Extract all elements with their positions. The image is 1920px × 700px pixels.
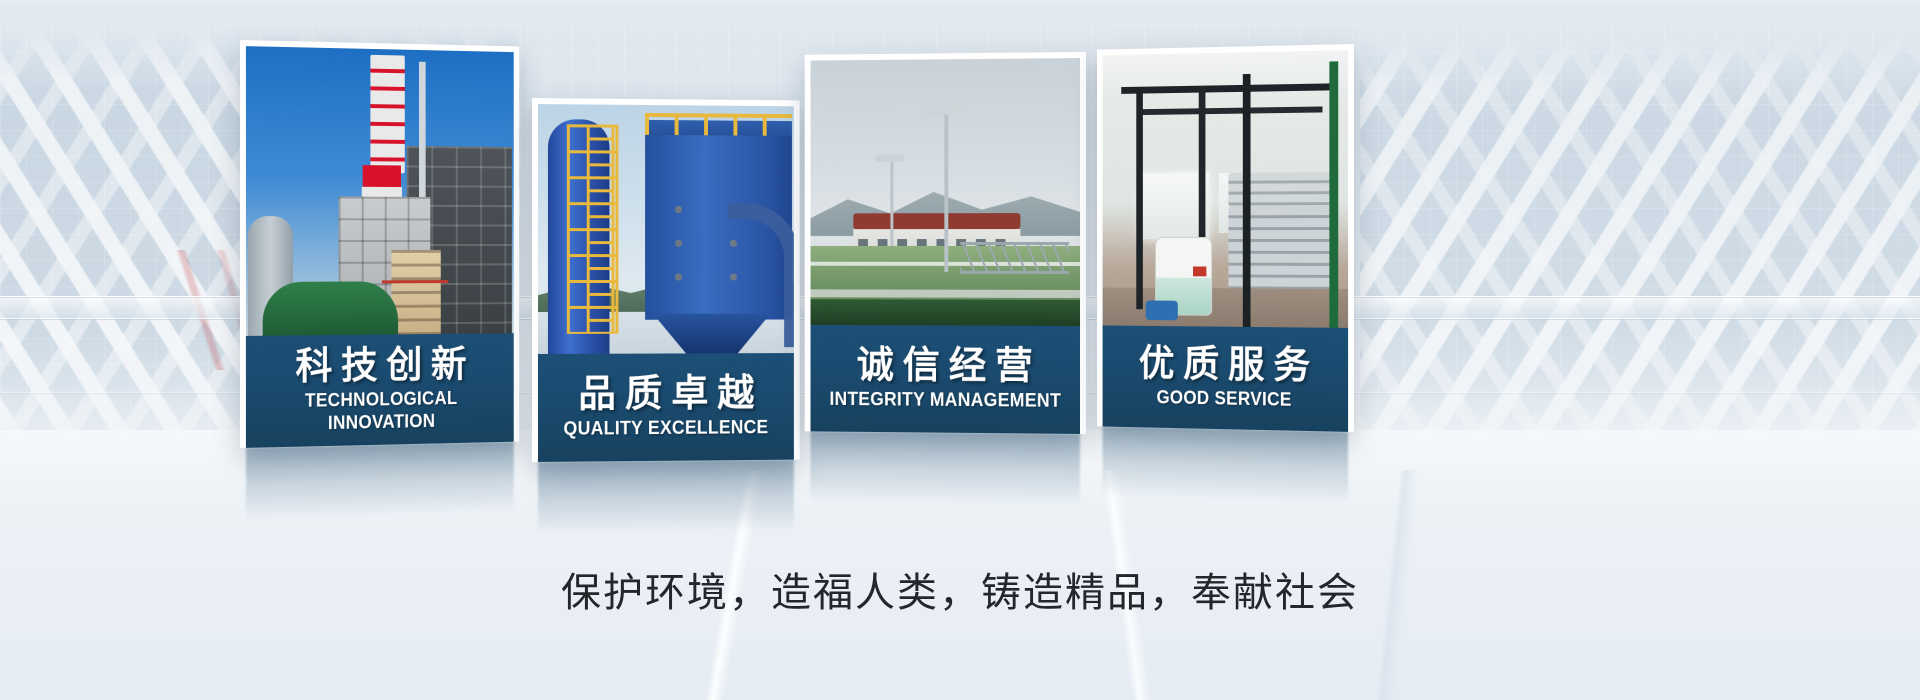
beige-building [391, 250, 440, 335]
panel-title-en: TECHNOLOGICAL INNOVATION [254, 387, 506, 437]
panel-title-cn: 诚信经营 [848, 345, 1042, 387]
panel-caption: 优质服务 GOOD SERVICE [1103, 325, 1348, 431]
water-treatment-room-photo [1103, 50, 1348, 328]
secondary-lamp-head [875, 155, 904, 162]
banner-tagline: 保护环境，造福人类，铸造精品，奉献社会 [0, 560, 1920, 618]
red-tile-roof [853, 214, 1020, 230]
panel-reflection [1103, 426, 1348, 503]
panel-reflection [811, 431, 1080, 506]
tank-label [1193, 266, 1206, 276]
panel-technological-innovation[interactable]: 科技创新 TECHNOLOGICAL INNOVATION [240, 40, 519, 448]
panel-caption: 品质卓越 QUALITY EXCELLENCE [538, 353, 794, 462]
green-pipe [1329, 61, 1338, 327]
panel-title-en: GOOD SERVICE [1157, 388, 1292, 413]
patterned-chimney [370, 55, 404, 174]
foreground-hedge [811, 299, 1080, 326]
blue-dust-collector-photo [538, 104, 794, 354]
yellow-ladder [587, 124, 615, 333]
wastewater-treatment-plant-photo [811, 58, 1080, 326]
clarifier-bridge [960, 242, 1069, 274]
vertical-pipe-1 [1136, 87, 1143, 310]
panel-title-cn: 优质服务 [1130, 343, 1319, 386]
green-equipment-housing [262, 281, 397, 335]
panel-title-en: QUALITY EXCELLENCE [564, 417, 769, 441]
panel-caption: 诚信经营 INTEGRITY MANAGEMENT [811, 325, 1080, 434]
thin-exhaust-pipe [419, 61, 426, 218]
panel-reflection [538, 460, 794, 534]
blue-elbow-pipe [728, 203, 794, 348]
red-pipe-line [382, 280, 448, 283]
industrial-chimney-stack-photo [246, 46, 514, 336]
panel-title-en: INTEGRITY MANAGEMENT [829, 389, 1061, 413]
blue-pump [1146, 301, 1178, 321]
building-windows [391, 250, 440, 335]
panel-integrity-management[interactable]: 诚信经营 INTEGRITY MANAGEMENT [805, 52, 1086, 434]
vertical-pipe-3 [1243, 74, 1251, 327]
panel-reflection [246, 442, 514, 520]
promo-banner: 科技创新 TECHNOLOGICAL INNOVATION 品质卓越 [0, 0, 1920, 700]
walkway [811, 289, 1080, 298]
panel-quality-excellence[interactable]: 品质卓越 QUALITY EXCELLENCE [532, 98, 800, 462]
panel-title-cn: 品质卓越 [569, 373, 763, 415]
panel-title-cn: 科技创新 [287, 344, 475, 387]
panel-caption: 科技创新 TECHNOLOGICAL INNOVATION [246, 333, 514, 448]
chimney-red-band [363, 165, 401, 189]
street-lamp-pole [944, 107, 948, 272]
panel-good-service[interactable]: 优质服务 GOOD SERVICE [1097, 44, 1354, 432]
secondary-lamp-pole [891, 155, 894, 245]
